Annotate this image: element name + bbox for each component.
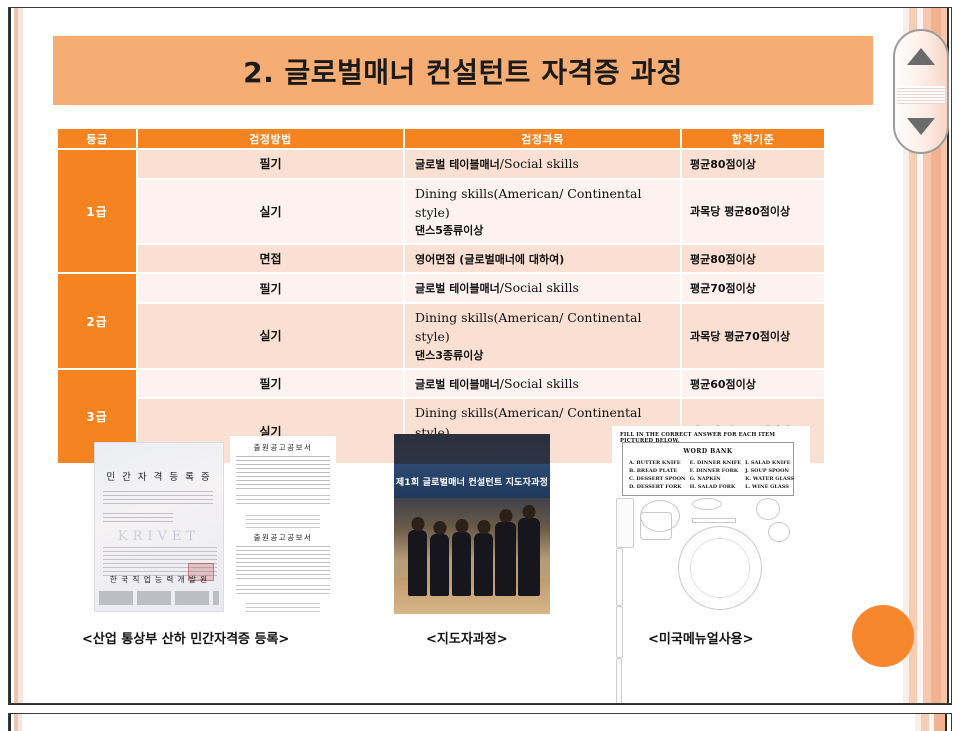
napkin-shape: [616, 498, 634, 548]
water-glass-shape: [756, 498, 780, 520]
place-setting-diagram: [616, 498, 806, 616]
scroll-control[interactable]: [893, 29, 949, 154]
scroll-grip-lines[interactable]: [897, 86, 945, 104]
subject-cell: Dining skills(American/ Continental styl…: [405, 180, 680, 244]
certificate-documents-image: 민 간 자 격 등 록 증 KRIVET 한 국 직 업 능 력 개 발 원 출…: [74, 434, 336, 616]
subject-ko: 글로벌 테이블매너: [415, 378, 500, 391]
salad-fork-shape: [616, 548, 623, 606]
method-cell: 실기: [138, 304, 403, 368]
photo-head: [411, 517, 424, 531]
certificate-watermark: KRIVET: [95, 529, 223, 544]
next-slide-panel[interactable]: [8, 713, 952, 731]
method-cell: 필기: [138, 274, 403, 302]
page-title: 2. 글로벌매너 컨설턴트 자격증 과정: [243, 51, 683, 91]
certificate-footer-bar: [99, 591, 219, 605]
table-header-method: 검정방법: [138, 129, 403, 148]
table-header-pass: 합격기준: [682, 129, 824, 148]
word-bank-item: C. DESSERT SPOON: [629, 476, 686, 482]
photo-person: [518, 518, 540, 596]
grade-cell: 2급: [58, 274, 136, 367]
table-row: 면접 영어면접 (글로벌매너에 대하여) 평균80점이상: [58, 245, 824, 272]
method-cell: 필기: [138, 370, 403, 398]
pass-cell: 평균80점이상: [682, 245, 824, 272]
group-photo-image: 제1회 글로벌매너 컨설턴트 지도자과정: [394, 434, 550, 614]
photo-person: [452, 532, 471, 596]
table-setting-worksheet-image: FILL IN THE CORRECT ANSWER FOR EACH ITEM…: [612, 426, 810, 618]
subject-cell: Dining skills(American/ Continental styl…: [405, 304, 680, 368]
pass-cell: 평균60점이상: [682, 370, 824, 398]
word-bank-item: I. SALAD KNIFE: [745, 460, 794, 466]
word-bank-item: A. BUTTER KNIFE: [629, 460, 686, 466]
photo-person: [408, 530, 427, 596]
word-bank-item: K. WATER GLASS: [745, 476, 794, 482]
next-panel-stripe-right: [905, 714, 951, 731]
word-bank-item: F. DINNER FORK: [690, 468, 741, 474]
dinner-plate-inner-shape: [690, 538, 750, 598]
photo-banner-text: 제1회 글로벌매너 컨설턴트 지도자과정: [396, 475, 548, 488]
method-cell: 면접: [138, 245, 403, 272]
table-header-grade: 등급: [58, 129, 136, 148]
caption-worksheet: <미국메뉴얼사용>: [648, 628, 754, 647]
subject-ko: 글로벌 테이블매너: [415, 158, 500, 171]
photo-person: [430, 534, 449, 596]
caption-certificate: <산업 통상부 산하 민간자격증 등록>: [82, 628, 289, 647]
method-cell: 실기: [138, 180, 403, 244]
subject-en: /Social skills: [500, 156, 579, 171]
photo-head: [523, 505, 536, 519]
orange-circle-decoration: [852, 605, 914, 667]
word-bank-item: L. WINE GLASS: [745, 484, 794, 490]
word-bank-item: H. SALAD FORK: [690, 484, 741, 490]
word-bank-item: E. DINNER KNIFE: [690, 460, 741, 466]
title-banner: 2. 글로벌매너 컨설턴트 자격증 과정: [53, 36, 873, 105]
gazette-title-2: 출원공고공보서: [230, 532, 336, 543]
word-bank-item: B. BREAD PLATE: [629, 468, 686, 474]
certification-table: 등급 검정방법 검정과목 합격기준 1급 필기 글로벌 테이블매너/Social…: [56, 127, 826, 465]
subject-line2: 댄스5종류이상: [415, 222, 680, 239]
grade-cell: 1급: [58, 150, 136, 272]
dessert-spoon-shape: [692, 498, 722, 510]
private-qualification-certificate: 민 간 자 격 등 록 증 KRIVET 한 국 직 업 능 력 개 발 원: [94, 442, 224, 612]
decorative-stripe-left: [9, 8, 39, 703]
subject-cell: 글로벌 테이블매너/Social skills: [405, 370, 680, 398]
subject-en: Dining skills(American/ Continental styl…: [415, 184, 680, 223]
worksheet-word-bank-box: WORD BANK A. BUTTER KNIFE E. DINNER KNIF…: [622, 442, 794, 496]
subject-ko: 글로벌 테이블매너: [415, 282, 500, 295]
certificate-issuer: 한 국 직 업 능 력 개 발 원: [101, 574, 217, 585]
word-bank-item: J. SOUP SPOON: [745, 468, 794, 474]
dinner-knife-shape: [616, 658, 622, 704]
certificate-title: 민 간 자 격 등 록 증: [103, 469, 215, 483]
table-header-row: 등급 검정방법 검정과목 합격기준: [58, 129, 824, 148]
photo-head: [433, 521, 446, 535]
pass-cell: 과목당 평균80점이상: [682, 180, 824, 244]
table-row: 실기 Dining skills(American/ Continental s…: [58, 180, 824, 244]
subject-cell: 글로벌 테이블매너/Social skills: [405, 150, 680, 178]
table-row: 1급 필기 글로벌 테이블매너/Social skills 평균80점이상: [58, 150, 824, 178]
scroll-up-icon[interactable]: [907, 48, 935, 65]
photo-head: [499, 509, 512, 523]
slide-frame: 2. 글로벌매너 컨설턴트 자격증 과정 등급 검정방법 검정과목 합격기준 1…: [8, 7, 952, 704]
pass-cell: 평균80점이상: [682, 150, 824, 178]
photo-person: [495, 522, 516, 596]
subject-en: Dining skills(American/ Continental styl…: [415, 308, 680, 347]
table-row: 3급 필기 글로벌 테이블매너/Social skills 평균60점이상: [58, 370, 824, 398]
word-bank-item: D. DESSERT FORK: [629, 484, 686, 490]
dessert-fork-shape: [692, 518, 736, 523]
photo-person: [474, 533, 493, 596]
photo-banner: 제1회 글로벌매너 컨설턴트 지도자과정: [394, 464, 550, 498]
word-bank-title: WORD BANK: [623, 448, 793, 455]
method-cell: 필기: [138, 150, 403, 178]
subject-line2: 댄스3종류이상: [415, 347, 680, 364]
dinner-fork-shape: [616, 606, 623, 658]
scroll-down-icon[interactable]: [907, 118, 935, 135]
subject-en: /Social skills: [500, 280, 579, 295]
subject-cell: 글로벌 테이블매너/Social skills: [405, 274, 680, 302]
pass-cell: 평균70점이상: [682, 274, 824, 302]
next-panel-stripe-left: [9, 714, 31, 731]
photo-head: [455, 519, 468, 533]
word-bank-list: A. BUTTER KNIFE E. DINNER KNIFE I. SALAD…: [623, 455, 793, 490]
caption-group-photo: <지도자과정>: [426, 628, 508, 647]
subject-cell: 영어면접 (글로벌매너에 대하여): [405, 245, 680, 272]
photo-head: [477, 520, 490, 534]
wine-glass-shape: [768, 522, 790, 542]
gazette-title-1: 출원공고공보서: [230, 442, 336, 453]
bowl-shape: [640, 512, 672, 540]
word-bank-item: G. NAPKIN: [690, 476, 741, 482]
subject-en: /Social skills: [500, 376, 579, 391]
table-row: 실기 Dining skills(American/ Continental s…: [58, 304, 824, 368]
images-row: 민 간 자 격 등 록 증 KRIVET 한 국 직 업 능 력 개 발 원 출…: [56, 426, 846, 621]
subject-ko: 영어면접 (글로벌매너에 대하여): [415, 253, 564, 266]
table-header-subject: 검정과목: [405, 129, 680, 148]
table-row: 2급 필기 글로벌 테이블매너/Social skills 평균70점이상: [58, 274, 824, 302]
pass-cell: 과목당 평균70점이상: [682, 304, 824, 368]
publication-gazette-documents: 출원공고공보서 출원공고공보서: [230, 436, 336, 616]
